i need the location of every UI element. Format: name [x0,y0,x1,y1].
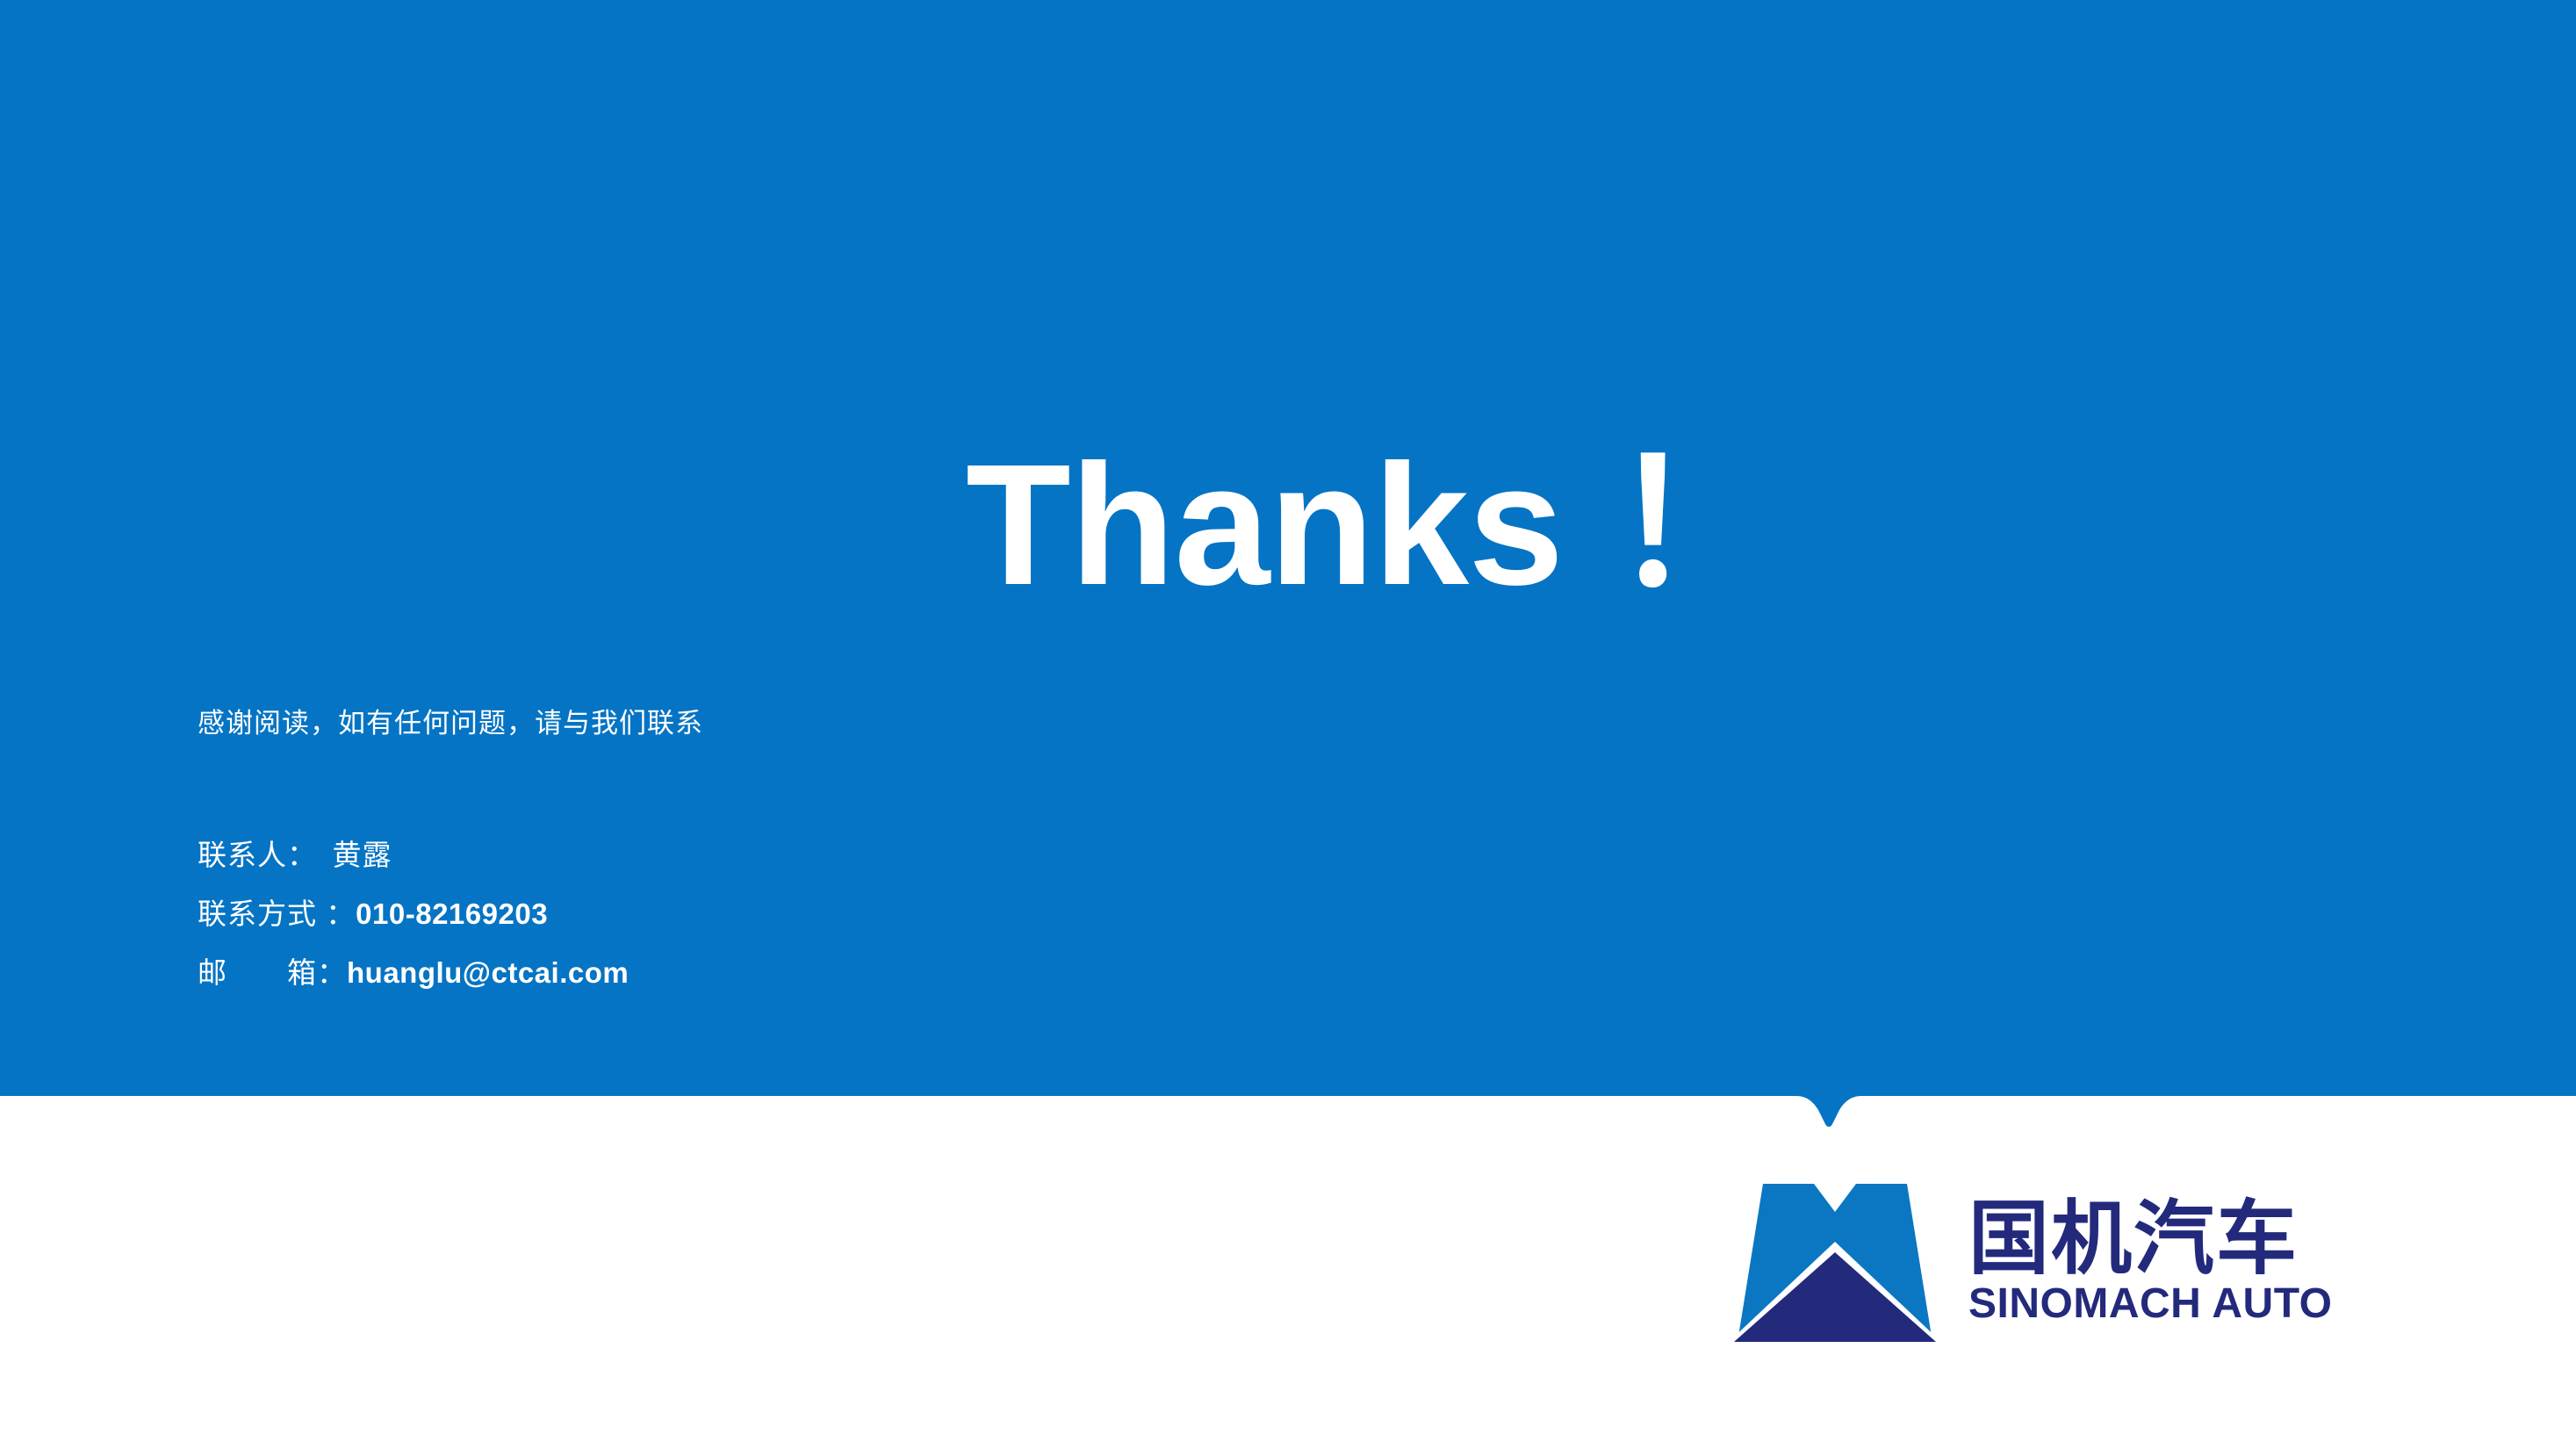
contact-block: 联系人： 黄露 联系方式 ：010-82169203 邮 箱：huanglu@c… [198,825,629,1002]
logo-wordmark: 国机汽车 SINOMACH AUTO [1968,1199,2333,1328]
page-title: Thanks ！ [966,439,1781,611]
contact-person-label: 联系人： [198,839,303,871]
contact-email-value: huanglu@ctcai.com [347,956,629,989]
company-logo: 国机汽车 SINOMACH AUTO [1723,1175,2337,1351]
logo-chinese-name: 国机汽车 [1968,1199,2333,1281]
intro-text: 感谢阅读，如有任何问题，请与我们联系 [198,701,703,740]
contact-row: 邮 箱：huanglu@ctcai.com [198,943,629,1002]
contact-phone-value: 010-82169203 [356,898,548,930]
sinomach-mountain-mark-icon [1723,1177,1947,1349]
contact-email-label: 邮 箱： [198,956,347,989]
logo-english-name: SINOMACH AUTO [1968,1282,2333,1327]
contact-row: 联系方式 ：010-82169203 [198,884,629,943]
contact-person-value: 黄露 [303,839,392,871]
contact-phone-label: 联系方式 ： [198,898,356,930]
contact-row: 联系人： 黄露 [198,825,629,884]
thanks-slide: Thanks ！ 感谢阅读，如有任何问题，请与我们联系 联系人： 黄露 联系方式… [0,0,2576,1449]
